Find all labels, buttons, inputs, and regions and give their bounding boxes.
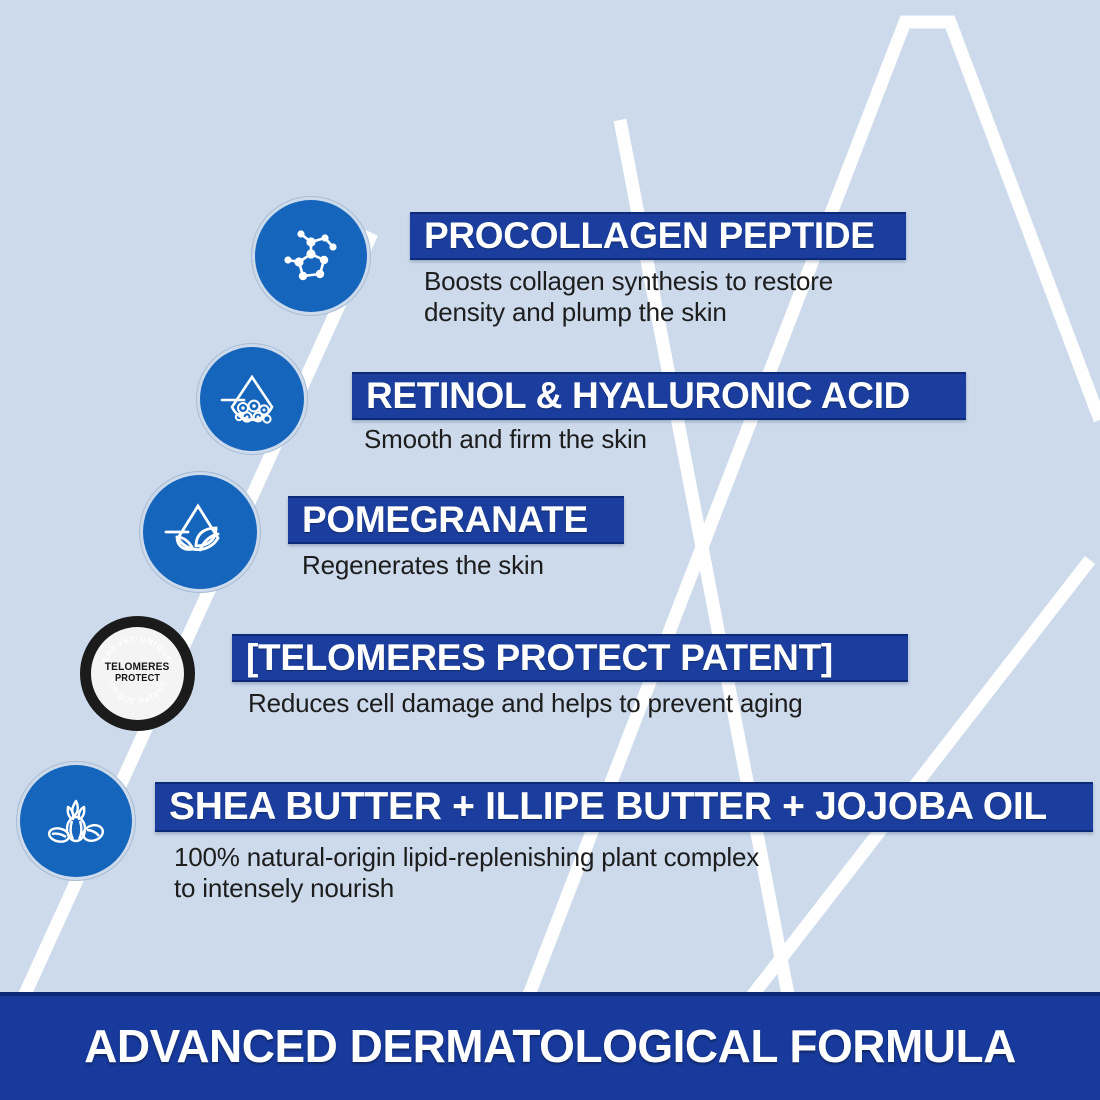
feature-icon-droplet-leaf — [143, 475, 257, 589]
footer-headline: ADVANCED DERMATOLOGICAL FORMULA — [84, 1019, 1016, 1073]
feature-title-text: RETINOL & HYALURONIC ACID — [366, 375, 910, 417]
feature-title-plate-procollagen-peptide: PROCOLLAGEN PEPTIDE — [410, 212, 906, 260]
seeds-leaves-icon — [40, 785, 112, 857]
droplet-bubbles-icon — [217, 364, 287, 434]
feature-title-text: SHEA BUTTER + ILLIPE BUTTER + JOJOBA OIL — [169, 785, 1047, 829]
feature-description-procollagen-peptide: Boosts collagen synthesis to restore den… — [424, 266, 944, 327]
feature-icon-telomeres-protect-badge: BREVET UNIQUE UNIQUE PATENT TELOMERES PR… — [80, 616, 195, 731]
feature-title-plate-retinol-hyaluronic-acid: RETINOL & HYALURONIC ACID — [352, 372, 966, 420]
feature-title-plate-shea-illipe-jojoba: SHEA BUTTER + ILLIPE BUTTER + JOJOBA OIL — [155, 782, 1093, 832]
feature-title-text: [TELOMERES PROTECT PATENT] — [246, 637, 833, 679]
feature-description-shea-illipe-jojoba: 100% natural-origin lipid-replenishing p… — [174, 842, 974, 903]
feature-title-text: POMEGRANATE — [302, 499, 588, 541]
ingredient-infographic: PROCOLLAGEN PEPTIDE Boosts collagen synt… — [0, 0, 1100, 1100]
badge-label-line2: PROTECT — [115, 674, 160, 685]
feature-icon-molecule — [255, 200, 367, 312]
feature-icon-seeds-leaves — [20, 765, 132, 877]
feature-icon-droplet-bubbles — [200, 347, 304, 451]
svg-text:BREVET UNIQUE: BREVET UNIQUE — [101, 634, 175, 664]
feature-title-plate-pomegranate: POMEGRANATE — [288, 496, 624, 544]
feature-description-telomeres-protect-patent: Reduces cell damage and helps to prevent… — [248, 688, 948, 719]
feature-title-text: PROCOLLAGEN PEPTIDE — [424, 215, 875, 257]
feature-description-pomegranate: Regenerates the skin — [302, 550, 822, 581]
footer-top-edge — [0, 992, 1100, 996]
feature-title-plate-telomeres-protect-patent: [TELOMERES PROTECT PATENT] — [232, 634, 908, 682]
footer-banner: ADVANCED DERMATOLOGICAL FORMULA — [0, 992, 1100, 1100]
droplet-leaf-icon — [162, 494, 238, 570]
feature-description-retinol-hyaluronic-acid: Smooth and firm the skin — [364, 424, 884, 455]
molecule-icon — [275, 220, 347, 292]
